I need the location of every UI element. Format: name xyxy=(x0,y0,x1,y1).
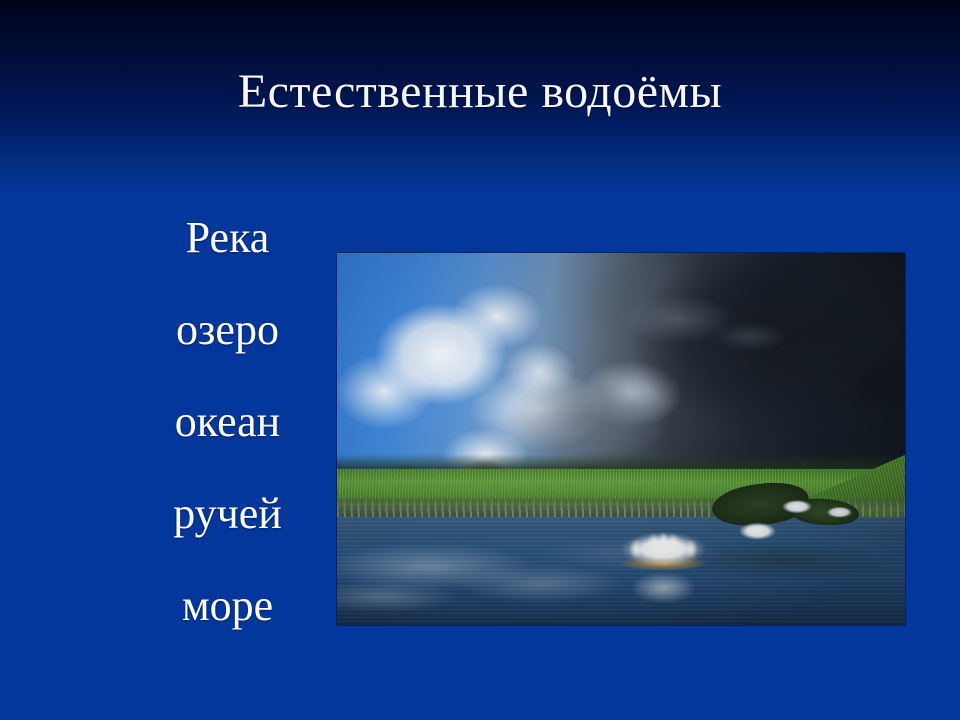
list-item: море xyxy=(182,580,273,632)
list-item: озеро xyxy=(176,304,279,356)
water-body-word-list: Река озеро океан ручей море xyxy=(110,212,345,632)
slide-title: Естественные водоёмы xyxy=(0,62,960,122)
list-item: океан xyxy=(175,396,280,448)
list-item: ручей xyxy=(173,488,282,540)
pond-with-water-lilies-photo xyxy=(337,253,905,625)
presentation-slide: Естественные водоёмы Река озеро океан ру… xyxy=(0,0,960,720)
photo-tone-overlay xyxy=(337,253,905,625)
list-item: Река xyxy=(186,212,270,264)
